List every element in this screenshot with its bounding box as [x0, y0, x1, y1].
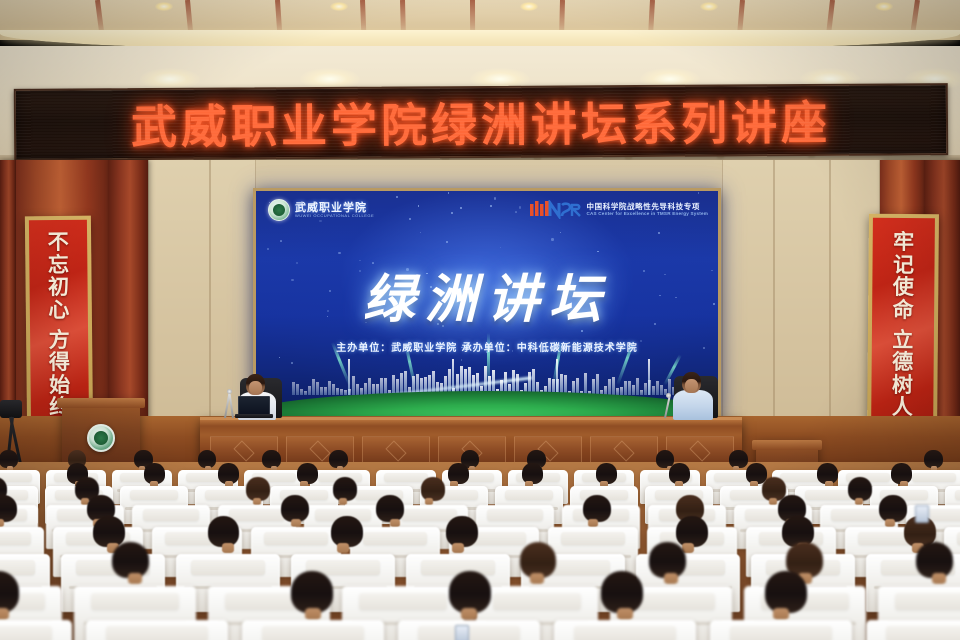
skyline-building: [324, 387, 327, 395]
skyline-building: [312, 379, 315, 395]
podium-left-top: [57, 398, 144, 408]
audience-seat: [242, 620, 384, 640]
screen-star-50: [500, 247, 501, 248]
skyline-building: [368, 378, 371, 395]
left-scroll-line2-char-2: 始: [49, 374, 70, 397]
screen-skyline-graphic: [256, 355, 718, 417]
screen-star-20: [267, 248, 269, 250]
screen-star-31: [420, 232, 421, 233]
ceiling-top-spot-1: [330, 2, 348, 11]
skyline-building: [636, 378, 639, 395]
tmsr-name-cn: 中国科学院战略性先导科技专项: [587, 203, 708, 211]
audience-neck: [664, 573, 677, 584]
speaker-right-mic-head-icon: [666, 393, 671, 398]
podium-left-crest-icon: [87, 424, 115, 452]
skyline-building: [308, 386, 311, 395]
skyline-building: [644, 383, 647, 395]
ceiling-top-spot-3: [700, 2, 718, 11]
ceiling-top-spot-2: [520, 2, 538, 11]
skyline-building: [336, 388, 339, 395]
audience-neck: [305, 608, 320, 621]
screen-left-logo: 武威职业学院 WUWEI OCCUPATIONAL COLLEGE: [268, 199, 374, 221]
screen-star-30: [280, 240, 282, 242]
school-name-block: 武威职业学院 WUWEI OCCUPATIONAL COLLEGE: [295, 202, 374, 218]
screen-star-22: [698, 192, 699, 193]
screen-star-51: [494, 197, 497, 200]
left-scroll-line1-char-1: 忘: [48, 253, 69, 276]
skyline-building: [656, 381, 659, 395]
screen-star-36: [551, 238, 553, 240]
speaker-right-head: [682, 372, 701, 393]
camera-body-icon: [0, 400, 22, 418]
right-scroll-line1-char-2: 使: [893, 276, 914, 299]
speaker-right-face: [685, 379, 698, 392]
table-diamond-5: [613, 440, 634, 461]
ceiling-top-spot-4: [875, 2, 893, 11]
skyline-building: [660, 385, 663, 395]
wall-panel-3: [774, 160, 830, 460]
audience-neck: [773, 608, 788, 621]
audience-neck: [932, 573, 945, 584]
skyline-tower-1: [452, 359, 454, 395]
screen-star-55: [519, 206, 522, 209]
right-scroll-line2: 立德树人: [892, 329, 914, 419]
audience-neck: [885, 519, 895, 527]
skyline-building: [340, 389, 343, 395]
skyline-building: [300, 389, 303, 395]
skyline-tower-3: [648, 359, 650, 395]
audience-neck: [0, 519, 4, 527]
audience-head: [376, 495, 404, 523]
right-scroll-line1-char-1: 记: [893, 254, 914, 277]
left-scroll-line1-char-0: 不: [48, 231, 69, 254]
audience-neck: [337, 543, 348, 552]
audience-neck: [461, 608, 476, 621]
right-scroll-line1: 牢记使命: [893, 231, 915, 321]
audience-head: [583, 495, 611, 523]
school-name-cn: 武威职业学院: [295, 202, 374, 214]
right-scroll-line2-char-1: 德: [892, 351, 913, 374]
right-scroll-line1-char-3: 命: [893, 298, 914, 321]
left-scroll-line1-char-2: 初: [48, 276, 69, 299]
screen-star-1: [490, 205, 492, 207]
audience-neck: [588, 519, 598, 527]
audience-head: [879, 495, 907, 523]
led-banner: 武威职业学院绿洲讲坛系列讲座: [14, 83, 948, 161]
table-diamond-1: [309, 440, 330, 461]
audience-head: [449, 571, 491, 613]
screen-star-9: [409, 218, 411, 220]
skyline-building: [356, 384, 359, 395]
audience-phone-0: [455, 625, 469, 640]
audience-head: [765, 571, 807, 613]
right-scroll-banner: 牢记使命 立德树人: [867, 214, 939, 437]
skyline-building: [292, 382, 295, 395]
skyline-building: [632, 385, 635, 395]
skyline-building: [608, 379, 611, 395]
screen-star-40: [451, 212, 453, 214]
speaker-left-laptop-base: [235, 414, 273, 418]
skyline-building: [584, 373, 587, 395]
skyline-building: [620, 387, 623, 395]
skyline-building: [352, 376, 355, 395]
skyline-building: [328, 381, 331, 395]
skyline-building: [316, 382, 319, 396]
screen-star-0: [515, 211, 517, 213]
audience-phone-1: [915, 505, 929, 523]
audience-head: [291, 571, 333, 613]
audience-seat: [0, 620, 72, 640]
skyline-building: [320, 387, 323, 395]
speaker-left-head: [246, 374, 265, 395]
right-scroll-line2-char-2: 树: [892, 374, 913, 397]
audience-head: [729, 450, 748, 469]
audience-head: [601, 571, 643, 613]
tmsr-logo-icon: [529, 200, 581, 219]
audience-neck: [291, 519, 301, 527]
podium-right-top: [752, 440, 821, 450]
left-scroll-line1: 不忘初心: [48, 231, 70, 321]
audience-neck: [390, 519, 400, 527]
screen-star-34: [448, 192, 450, 194]
skyline-building: [612, 377, 615, 396]
skyline-building: [304, 391, 307, 396]
skyline-building: [344, 390, 347, 395]
audience-neck: [452, 543, 463, 552]
speaker-right: [668, 370, 720, 420]
audience-neck: [0, 608, 9, 621]
school-crest-icon: [268, 199, 290, 221]
skyline-building: [596, 374, 599, 395]
left-scroll-line1-char-3: 心: [48, 298, 69, 321]
screen-star-38: [396, 196, 397, 197]
screen-title: 绿洲讲坛: [256, 257, 718, 332]
auditorium-scene: 武威职业学院绿洲讲坛系列讲座 不忘初心 方得始终 牢记使命 立德树人 武威职业学…: [0, 0, 960, 640]
right-scroll-line1-char-0: 牢: [893, 231, 914, 254]
ceiling-top-spot-0: [155, 2, 173, 11]
audience-seat: [398, 620, 540, 640]
screen-right-logo: 中国科学院战略性先导科技专项 CAS Center for Excellence…: [529, 200, 708, 219]
audience-seat: [86, 620, 228, 640]
skyline-building: [640, 390, 643, 395]
projection-screen: 武威职业学院 WUWEI OCCUPATIONAL COLLEGE 中国科学院战…: [253, 188, 721, 420]
skyline-building: [652, 386, 655, 395]
wall-panel-0: [148, 160, 210, 460]
screen-star-54: [338, 252, 340, 254]
screen-star-10: [418, 205, 420, 207]
school-name-en: WUWEI OCCUPATIONAL COLLEGE: [295, 214, 374, 218]
skyline-building: [624, 381, 627, 395]
right-scroll-inner: 牢记使命 立德树人: [871, 218, 935, 433]
screen-star-2: [446, 241, 448, 243]
skyline-building: [364, 383, 367, 395]
left-scroll-line2-char-1: 得: [49, 351, 70, 374]
screen-subtitle: 主办单位：武威职业学院 承办单位：中科低碳新能源技术学院: [256, 339, 718, 354]
left-scroll-line2-char-0: 方: [49, 329, 70, 352]
audience-neck: [617, 608, 632, 621]
skyline-building: [332, 384, 335, 395]
skyline-building: [628, 381, 631, 395]
wall-panel-2: [722, 160, 774, 460]
audience-seat: [554, 620, 696, 640]
skyline-tower-2: [556, 359, 558, 395]
audience-neck: [222, 543, 233, 552]
table-diamond-6: [689, 440, 710, 461]
skyline-tower-0: [348, 359, 350, 395]
speaker-left-laptop-screen: [238, 396, 270, 415]
audience-neck: [128, 573, 141, 584]
audience-neck: [530, 573, 543, 584]
downlight-a-0: [140, 68, 200, 90]
screen-star-35: [597, 251, 599, 253]
table-diamond-2: [385, 440, 406, 461]
screen-star-27: [658, 232, 660, 234]
tmsr-name-en: CAS Center for Excellence in TMSR Energy…: [587, 211, 708, 216]
skyline-building: [296, 384, 299, 395]
right-scroll-line2-char-0: 立: [892, 329, 913, 352]
audience-seat: [710, 620, 852, 640]
led-banner-text: 武威职业学院绿洲讲坛系列讲座: [131, 87, 831, 157]
screen-star-52: [560, 232, 561, 233]
screen-star-23: [460, 207, 462, 209]
speaker-right-body: [673, 390, 713, 420]
tmsr-name-block: 中国科学院战略性先导科技专项 CAS Center for Excellence…: [587, 203, 708, 216]
audience-seat: [866, 620, 960, 640]
table-diamond-0: [233, 440, 254, 461]
speaker-left-face: [249, 381, 262, 394]
